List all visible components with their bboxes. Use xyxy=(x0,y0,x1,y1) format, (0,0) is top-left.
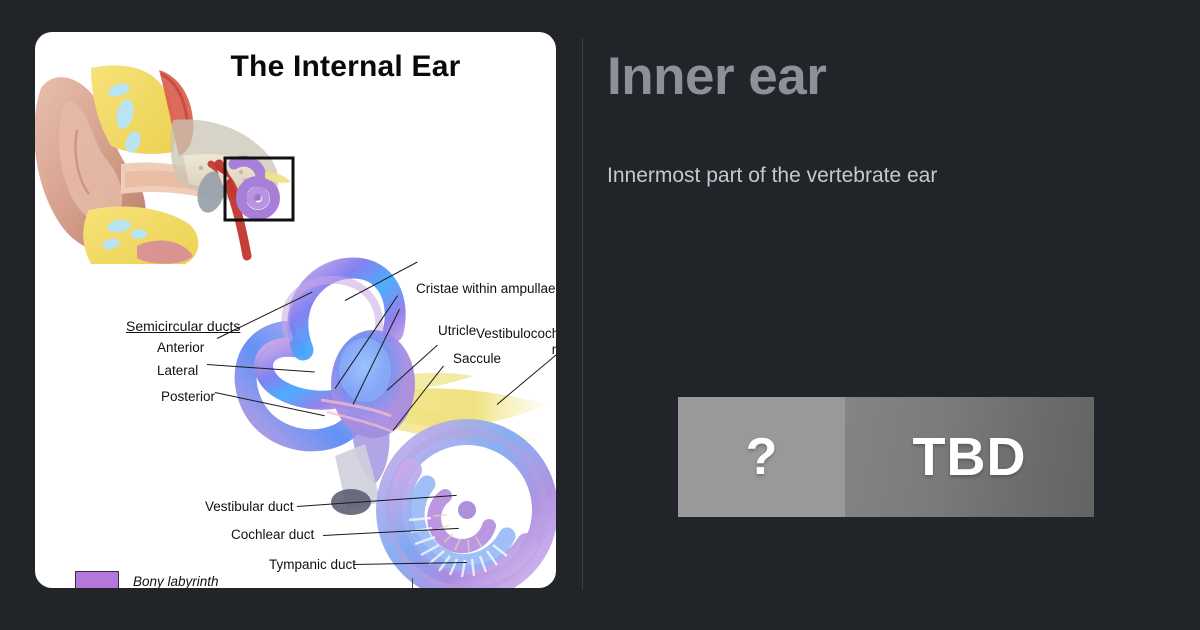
label-vestibular-duct: Vestibular duct xyxy=(205,499,294,515)
label-tympanic-duct: Tympanic duct xyxy=(269,557,356,573)
label-semicircular-ducts: Semicircular ducts xyxy=(126,318,240,334)
cochlea-bracket-stem xyxy=(412,578,413,588)
label-posterior: Posterior xyxy=(161,389,215,405)
diagram-title: The Internal Ear xyxy=(35,50,556,84)
ear-diagram-card[interactable]: The Internal Ear Semicircular ducts Ante… xyxy=(35,32,556,588)
page-subtitle: Innermost part of the vertebrate ear xyxy=(607,160,967,192)
vertical-divider xyxy=(582,38,583,590)
legend-label-bony: Bony labyrinth xyxy=(133,574,219,588)
tbd-badge[interactable]: ? TBD xyxy=(678,397,1094,517)
label-cristae-within-ampullae: Cristae within ampullae xyxy=(416,281,556,297)
page-title: Inner ear xyxy=(607,50,826,103)
label-vestibulocochlear-line2: n xyxy=(552,342,556,357)
label-anterior: Anterior xyxy=(157,340,204,356)
label-utricle: Utricle xyxy=(438,323,476,339)
label-cochlear-duct: Cochlear duct xyxy=(231,527,314,543)
label-vestibulocochlear-line1: Vestibulococh xyxy=(476,326,556,341)
cochlea-bracket xyxy=(412,578,556,588)
label-vestibulocochlear-nerve: Vestibulococh n xyxy=(476,326,556,357)
tbd-panel: TBD xyxy=(845,397,1094,517)
question-mark-panel: ? xyxy=(678,397,845,517)
label-lateral: Lateral xyxy=(157,363,198,379)
legend-swatch-bony xyxy=(75,571,119,588)
internal-ear-diagram: The Internal Ear Semicircular ducts Ante… xyxy=(35,32,556,588)
info-panel: Inner ear Innermost part of the vertebra… xyxy=(607,0,1167,630)
legend-item-bony: Bony labyrinth xyxy=(75,570,267,588)
outer-ear-cutaway-inset xyxy=(35,60,333,265)
legend: Bony labyrinth Membranous labyrinth xyxy=(75,570,267,588)
page-root: The Internal Ear Semicircular ducts Ante… xyxy=(0,0,1200,630)
